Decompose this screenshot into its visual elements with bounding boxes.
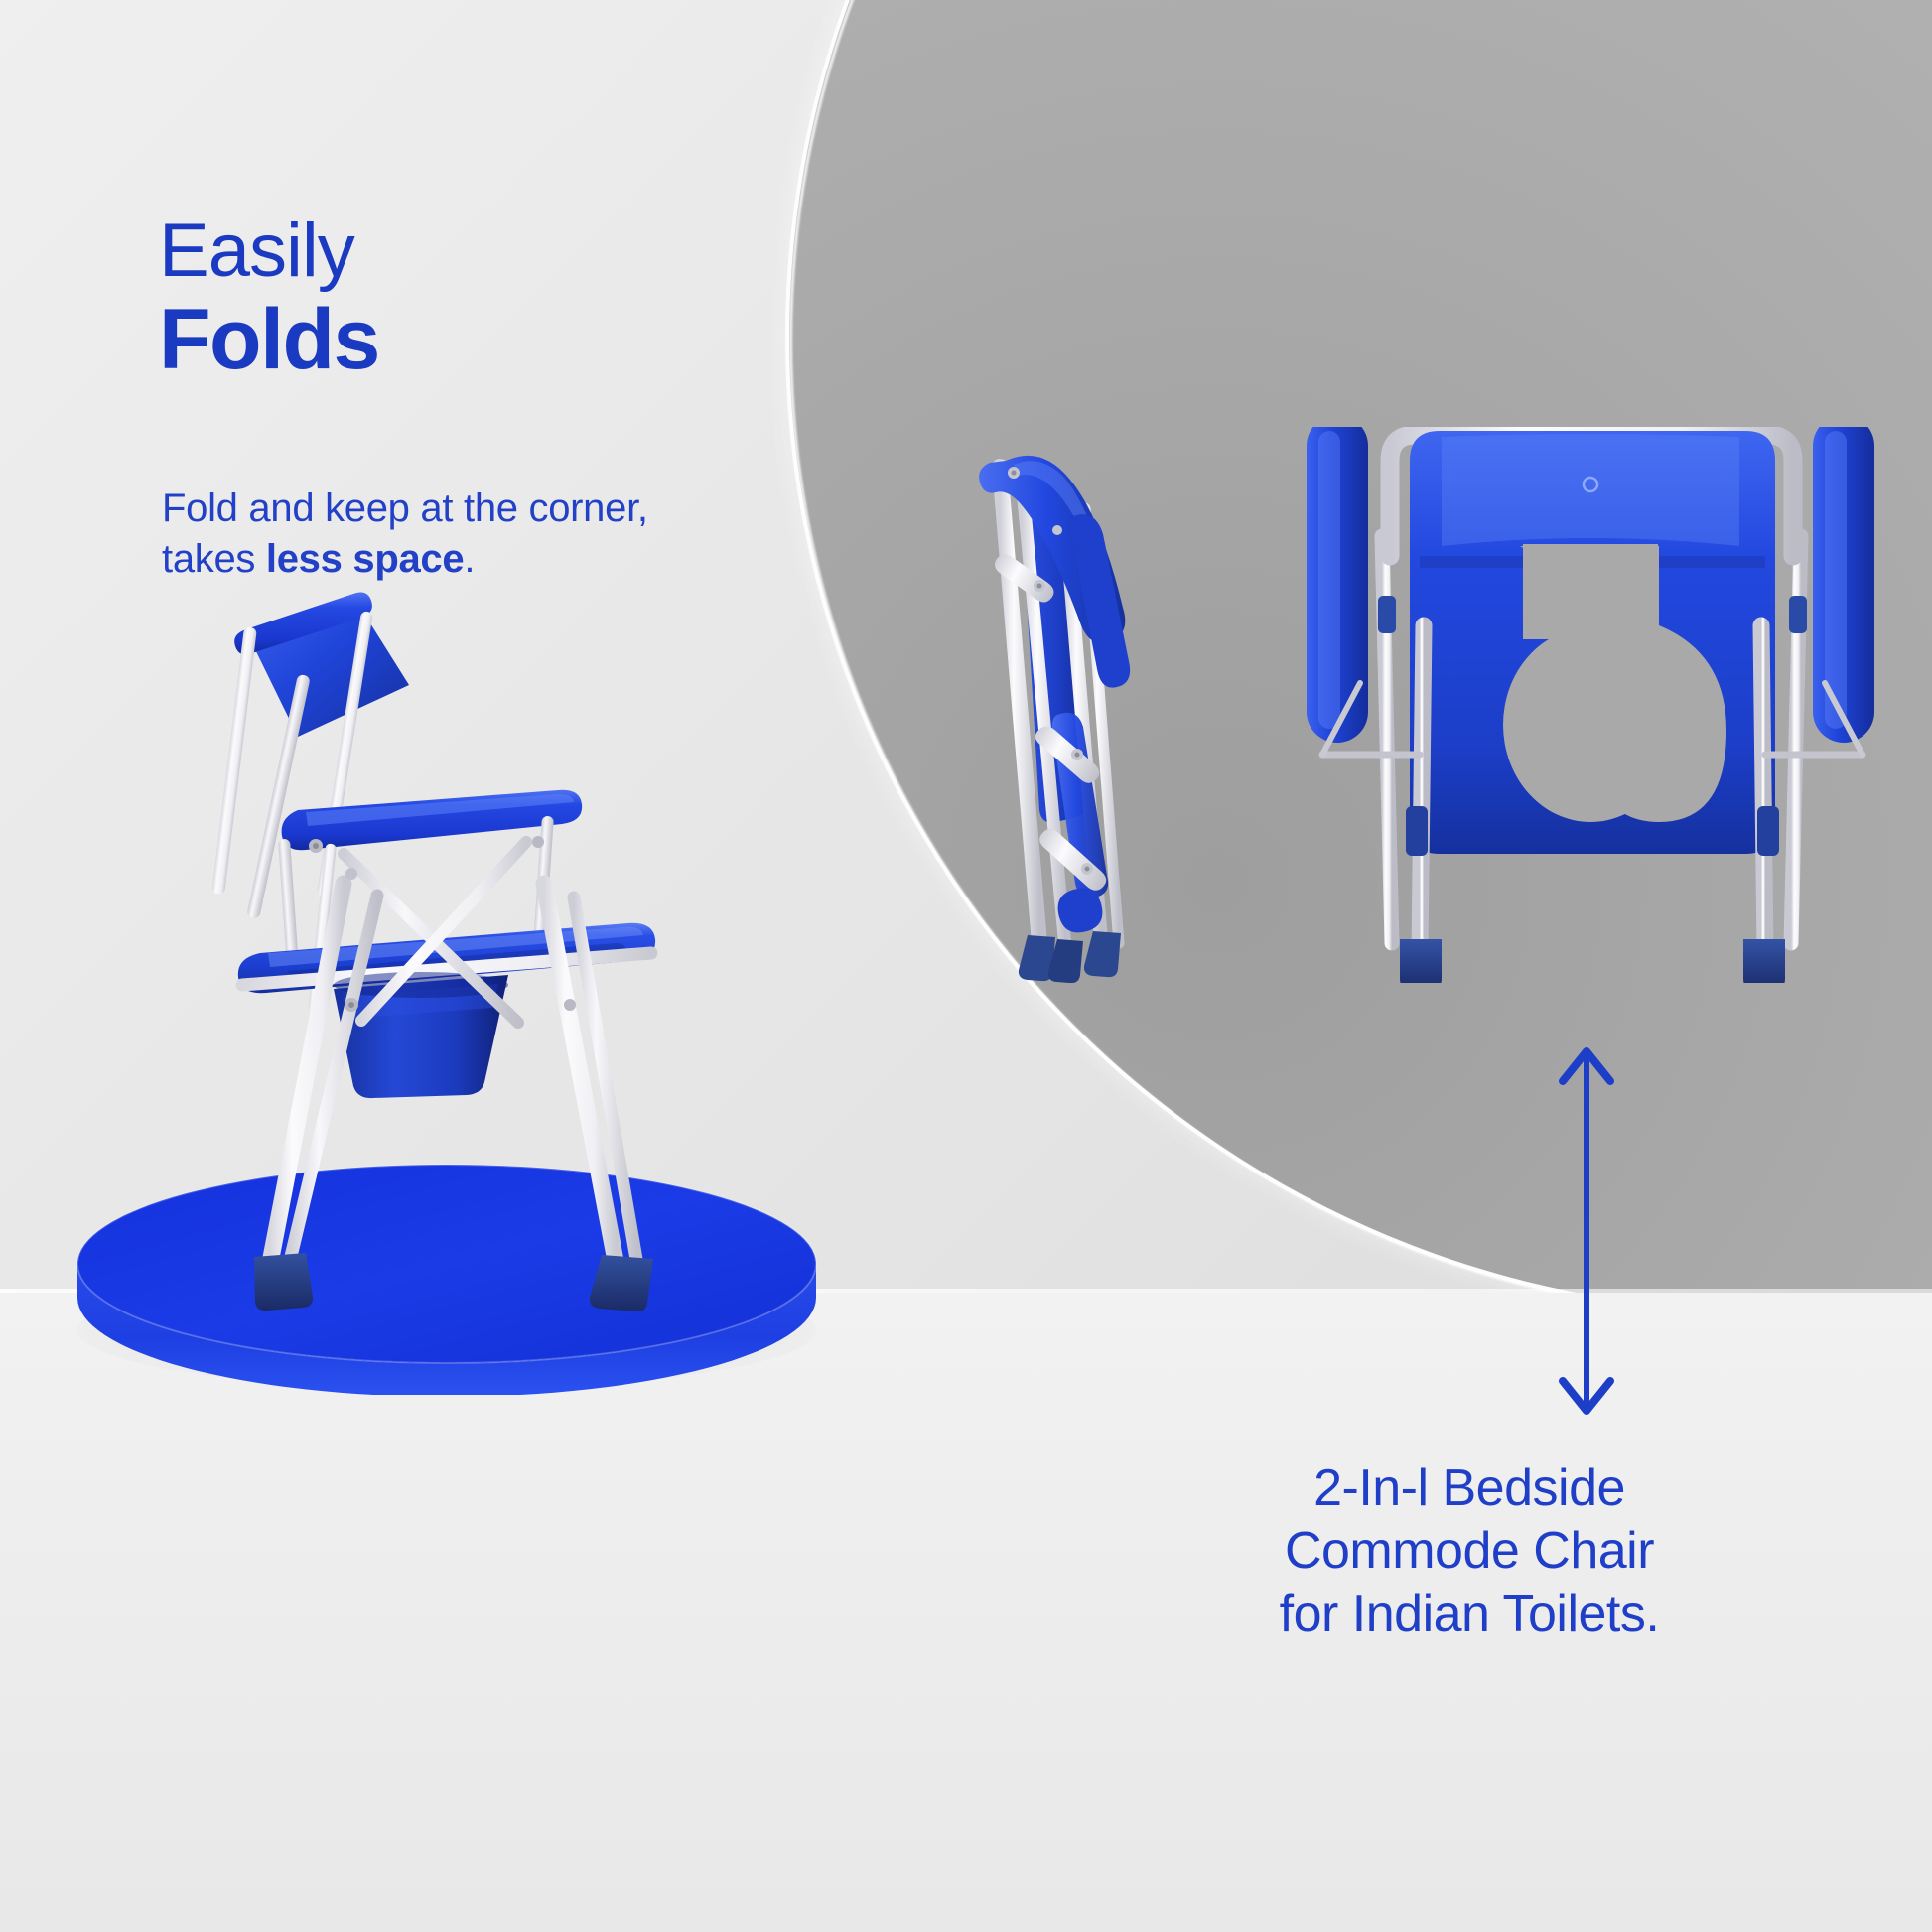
height-arrow-icon [1527,1037,1646,1425]
front-view-chair [1271,427,1906,983]
foot-caps [254,1253,653,1311]
folded-chair [948,427,1246,983]
headline-line-1: Easily [159,213,379,289]
subcopy-block: Fold and keep at the corner, takes less … [162,483,877,585]
caption-line-1: 2-In-l Bedside [1127,1457,1812,1520]
subcopy-line-2: takes less space. [162,534,877,585]
subcopy-line-2-prefix: takes [162,537,266,581]
seat-with-keyhole [1410,431,1775,854]
product-caption: 2-In-l Bedside Commode Chair for Indian … [1127,1457,1812,1646]
foot-caps-front [1400,939,1785,983]
caption-line-2: Commode Chair [1127,1520,1812,1583]
product-marketing-banner: Easily Folds Fold and keep at the corner… [0,0,1932,1932]
armrest-right [1813,427,1874,743]
subcopy-emphasis: less space [266,537,464,581]
headline-line-2: Folds [159,295,379,384]
armrest-left [1307,427,1368,743]
caption-line-3: for Indian Toilets. [1127,1584,1812,1646]
subcopy-line-1: Fold and keep at the corner, [162,483,877,534]
backrest [234,593,409,737]
side-view-chair [149,556,764,1360]
headline-block: Easily Folds [159,213,379,384]
subcopy-line-2-suffix: . [464,537,475,581]
